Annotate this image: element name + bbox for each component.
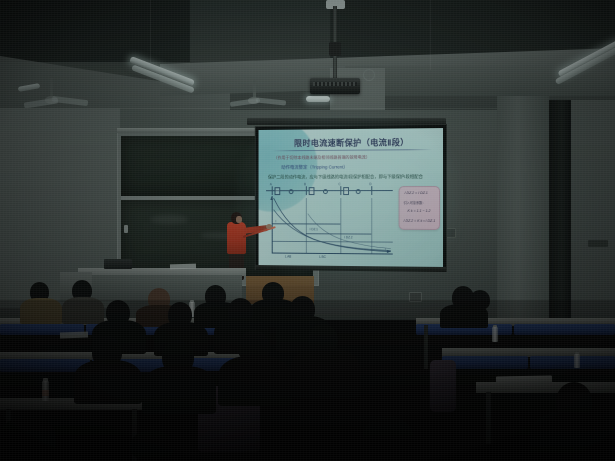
slide-line-2: 动作电流整定（Tripping Current） <box>281 165 348 171</box>
slide-title-underline <box>272 149 432 151</box>
formula-note: 引入可靠系数： <box>404 200 426 205</box>
ceiling-fan-left-rod <box>50 78 53 98</box>
seat-back <box>530 356 615 369</box>
slide-formula-box: I DZ.2 = I DZ.1 引入可靠系数： K k = 1.1 ~ 1.2 … <box>399 186 440 230</box>
desk-leg <box>424 325 428 369</box>
lecturer-face <box>236 216 242 223</box>
student-torso <box>530 412 615 461</box>
student-head <box>470 290 490 310</box>
doorway <box>549 100 571 328</box>
ceiling-hook-icon <box>363 69 375 81</box>
seat-back <box>514 324 615 335</box>
formula-eq-2: K k = 1.1 ~ 1.2 <box>407 209 430 213</box>
ceiling-fan-center-rod <box>253 80 256 98</box>
open-book <box>496 376 552 385</box>
notebook <box>60 332 88 339</box>
wall-outlet-icon[interactable] <box>409 292 422 302</box>
slide-title: 限时电流速断保护（电流Ⅱ段） <box>274 136 431 149</box>
ceiling-lamp-center <box>306 96 330 102</box>
formula-eq-3: I DZ.2 = K k • I DZ.1 <box>404 219 436 223</box>
ceiling-seam <box>150 0 151 62</box>
slide-line-3: 保护二段的动作电流，应与下级线路的电流Ⅰ段保护相配合，即与下级保护I段相配合 <box>268 174 423 180</box>
student-torso <box>142 366 216 414</box>
slide-diagram: A B C D <box>262 184 396 265</box>
right-wall-column <box>497 96 549 326</box>
lecturer-torso <box>227 222 246 254</box>
projection-screen: 限时电流速断保护（电流Ⅱ段） （作用于切除本线路末端及相邻线路首端的故障电流） … <box>255 124 447 272</box>
projector <box>310 78 360 94</box>
wall-sign <box>588 240 608 247</box>
podium-papers <box>170 264 196 270</box>
desk-leg <box>486 392 491 444</box>
slide-surface: 限时电流速断保护（电流Ⅱ段） （作用于切除本线路末端及相邻线路首端的故障电流） … <box>259 128 443 268</box>
ceiling-panel-left <box>0 0 190 62</box>
far-right-wall <box>571 100 615 328</box>
backpack <box>430 360 456 412</box>
student-torso <box>20 298 62 324</box>
student-torso <box>0 418 56 461</box>
chalk-smudge <box>150 215 188 224</box>
formula-eq-1: I DZ.2 = I DZ.1 <box>405 191 428 195</box>
classroom-photo: 限时电流速断保护（电流Ⅱ段） （作用于切除本线路末端及相邻线路首端的故障电流） … <box>0 0 615 461</box>
student-torso <box>290 348 360 398</box>
slide-line-1: （作用于切除本线路末端及相邻线路首端的故障电流） <box>274 155 370 161</box>
ceiling-seam <box>430 0 431 70</box>
student-torso <box>218 356 292 406</box>
student-torso <box>62 297 104 324</box>
student-torso <box>74 360 142 404</box>
projector-mount-joint <box>329 42 341 56</box>
student-head <box>130 430 174 461</box>
projector-vent <box>313 82 357 86</box>
blackboard-handle[interactable] <box>124 225 128 233</box>
student-head <box>362 416 414 461</box>
podium-monitor[interactable] <box>104 259 132 269</box>
